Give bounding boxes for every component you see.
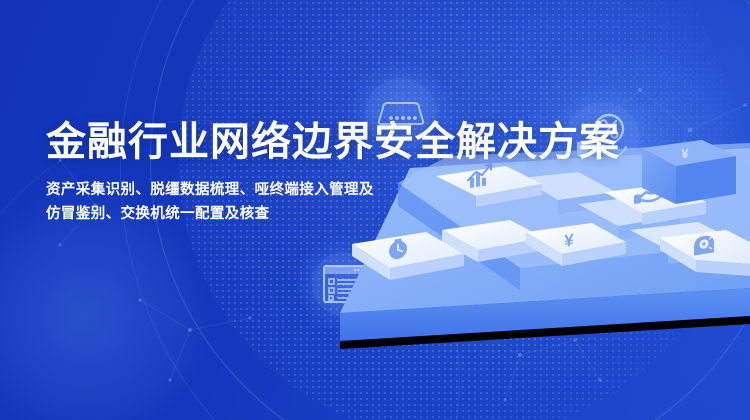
banner-text-block: 金融行业网络边界安全解决方案 资产采集识别、脱缰数据梳理、哑终端接入管理及 仿冒… xyxy=(46,120,620,227)
subtitle-line-1: 资产采集识别、脱缰数据梳理、哑终端接入管理及 xyxy=(46,179,620,203)
subtitle-line-2: 仿冒鉴别、交换机统一配置及核查 xyxy=(46,203,620,227)
yen-cube-icon: ¥ xyxy=(681,145,689,161)
svg-text:¥: ¥ xyxy=(681,145,689,161)
svg-text:¥: ¥ xyxy=(564,230,574,250)
banner-subtitle: 资产采集识别、脱缰数据梳理、哑终端接入管理及 仿冒鉴别、交换机统一配置及核查 xyxy=(46,179,620,227)
page-title: 金融行业网络边界安全解决方案 xyxy=(46,120,620,165)
cube-yen: ¥ xyxy=(642,140,736,204)
yen-icon: ¥ xyxy=(564,230,574,250)
banner-root: 金融行业网络边界安全解决方案 资产采集识别、脱缰数据梳理、哑终端接入管理及 仿冒… xyxy=(0,0,750,420)
